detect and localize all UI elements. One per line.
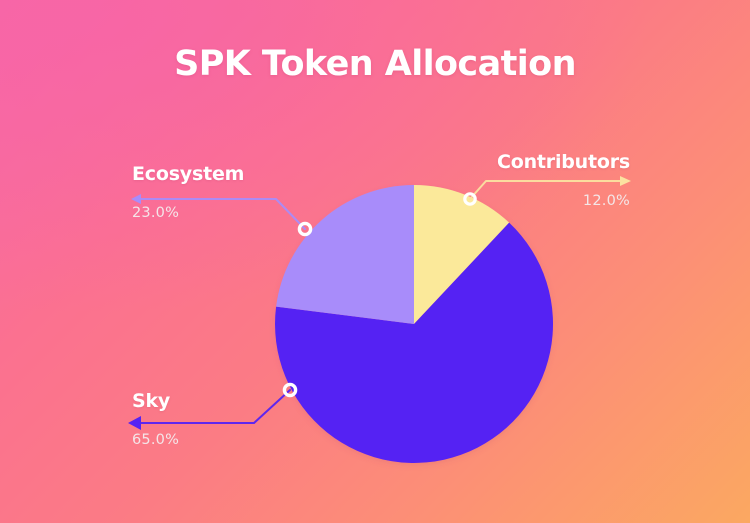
slice-label-sky-name: Sky <box>132 392 179 412</box>
slice-label-ecosystem-name: Ecosystem <box>132 165 244 185</box>
slice-label-contributors-value: 12.0% <box>497 194 630 209</box>
slice-label-ecosystem: Ecosystem 23.0% <box>132 165 244 221</box>
slice-label-contributors: Contributors 12.0% <box>497 153 630 209</box>
slice-label-sky: Sky 65.0% <box>132 392 179 448</box>
chart-canvas: SPK Token Allocation <box>0 0 750 523</box>
pie-chart-graphic <box>0 0 750 523</box>
slice-label-ecosystem-value: 23.0% <box>132 206 244 221</box>
slice-label-contributors-name: Contributors <box>497 153 630 173</box>
pie-slices <box>275 185 553 463</box>
pie-slice-ecosystem[interactable] <box>276 185 414 324</box>
slice-label-sky-value: 65.0% <box>132 433 179 448</box>
